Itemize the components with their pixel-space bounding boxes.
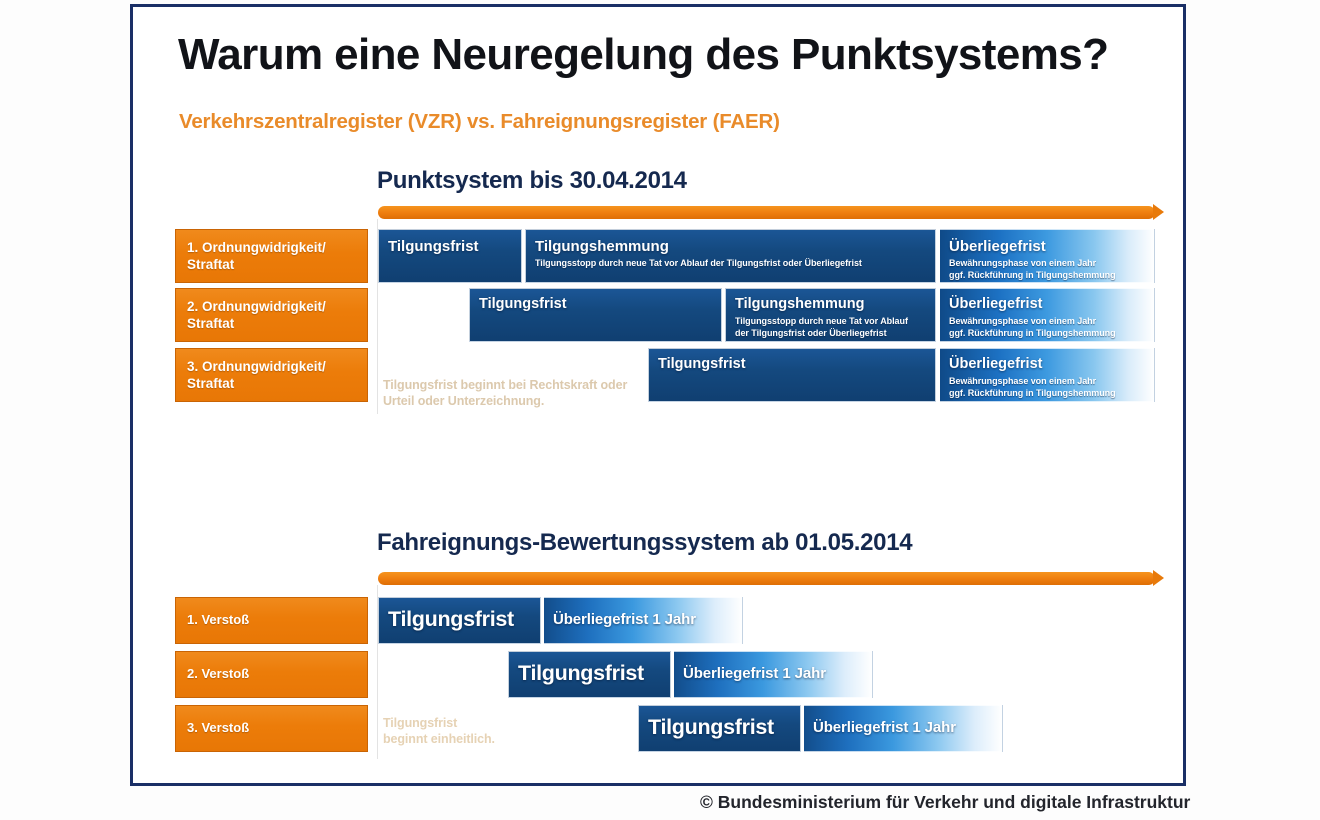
bar-subtext: Bewährungsphase von einem Jahr ggf. Rück… [949, 258, 1116, 281]
row-label-1-ordnungswidrigkeit: 1. Ordnungwidrigkeit/ Straftat [175, 229, 368, 283]
timeline-arrow-old-system [378, 206, 1155, 219]
bar-title: Tilgungsfrist [518, 661, 644, 686]
bar-title: Überliegefrist 1 Jahr [813, 719, 956, 736]
row-label-text: 2. Ordnungwidrigkeit/ Straftat [187, 298, 326, 333]
bar-title: Tilgungshemmung [535, 238, 669, 255]
bar-verstoss1-tilgungsfrist: Tilgungsfrist [378, 597, 541, 644]
bar-row3-tilgungsfrist: Tilgungsfrist [648, 348, 936, 402]
bar-row2-tilgungshemmung: Tilgungshemmung Tilgungsstopp durch neue… [725, 288, 936, 342]
row-label-text: 2. Verstoß [187, 666, 249, 683]
bar-row2-ueberliegefrist: Überliegefrist Bewährungsphase von einem… [939, 288, 1155, 342]
bar-title: Tilgungsfrist [658, 356, 746, 372]
bar-title: Tilgungsfrist [479, 296, 567, 312]
section-heading-old-system: Punktsystem bis 30.04.2014 [377, 167, 687, 195]
bar-verstoss3-tilgungsfrist: Tilgungsfrist [638, 705, 801, 752]
poster-canvas: Warum eine Neuregelung des Punktsystems?… [0, 0, 1320, 820]
bar-subtext: Tilgungsstopp durch neue Tat vor Ablauf … [735, 316, 908, 339]
page-title: Warum eine Neuregelung des Punktsystems? [178, 33, 1168, 78]
bar-title: Tilgungsfrist [648, 715, 774, 740]
row-label-text: 3. Verstoß [187, 720, 249, 737]
bar-subtext: Bewährungsphase von einem Jahr ggf. Rück… [949, 316, 1116, 339]
bar-row2-tilgungsfrist: Tilgungsfrist [469, 288, 722, 342]
bar-title: Überliegefrist [949, 296, 1042, 312]
bar-title: Tilgungsfrist [388, 238, 479, 255]
bar-subtext: Tilgungsstopp durch neue Tat vor Ablauf … [535, 258, 862, 270]
copyright-text: © Bundesministerium für Verkehr und digi… [700, 792, 1300, 813]
row-label-2-verstoss: 2. Verstoß [175, 651, 368, 698]
row-label-text: 1. Verstoß [187, 612, 249, 629]
bar-title: Überliegefrist 1 Jahr [683, 665, 826, 682]
bar-title: Überliegefrist 1 Jahr [553, 611, 696, 628]
bar-row1-tilgungshemmung: Tilgungshemmung Tilgungsstopp durch neue… [525, 229, 936, 283]
timeline-arrow-new-system [378, 572, 1155, 585]
bar-title: Überliegefrist [949, 356, 1042, 372]
bar-row3-ueberliegefrist: Überliegefrist Bewährungsphase von einem… [939, 348, 1155, 402]
bar-title: Tilgungsfrist [388, 607, 514, 632]
row-label-text: 1. Ordnungwidrigkeit/ Straftat [187, 239, 326, 274]
bar-verstoss2-tilgungsfrist: Tilgungsfrist [508, 651, 671, 698]
page-subtitle: Verkehrszentralregister (VZR) vs. Fahrei… [179, 110, 1169, 134]
row-label-2-ordnungswidrigkeit: 2. Ordnungwidrigkeit/ Straftat [175, 288, 368, 342]
bar-title: Tilgungshemmung [735, 296, 864, 312]
bar-verstoss1-ueberliegefrist: Überliegefrist 1 Jahr [543, 597, 743, 644]
bar-verstoss3-ueberliegefrist: Überliegefrist 1 Jahr [803, 705, 1003, 752]
row-label-text: 3. Ordnungwidrigkeit/ Straftat [187, 358, 326, 393]
row-label-3-verstoss: 3. Verstoß [175, 705, 368, 752]
row-label-3-ordnungswidrigkeit: 3. Ordnungwidrigkeit/ Straftat [175, 348, 368, 402]
row-label-1-verstoss: 1. Verstoß [175, 597, 368, 644]
bar-title: Überliegefrist [949, 238, 1046, 255]
bar-verstoss2-ueberliegefrist: Überliegefrist 1 Jahr [673, 651, 873, 698]
note-new-system: Tilgungsfrist beginnt einheitlich. [383, 715, 563, 748]
note-old-system: Tilgungsfrist beginnt bei Rechtskraft od… [383, 377, 643, 410]
bar-subtext: Bewährungsphase von einem Jahr ggf. Rück… [949, 376, 1116, 399]
poster-frame: Warum eine Neuregelung des Punktsystems?… [130, 4, 1186, 786]
bar-row1-tilgungsfrist: Tilgungsfrist [378, 229, 522, 283]
section-heading-new-system: Fahreignungs-Bewertungssystem ab 01.05.2… [377, 529, 912, 557]
bar-row1-ueberliegefrist: Überliegefrist Bewährungsphase von einem… [939, 229, 1155, 283]
